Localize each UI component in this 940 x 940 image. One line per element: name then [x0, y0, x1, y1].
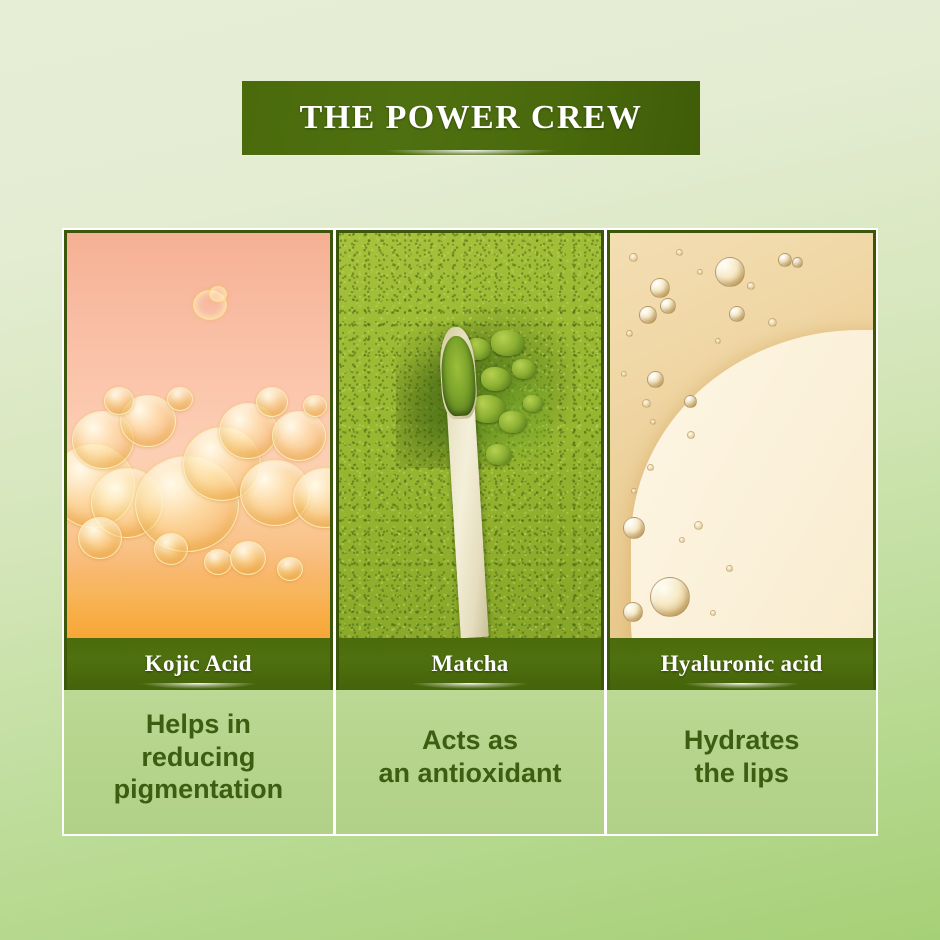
ingredient-label-bar: Matcha	[336, 638, 605, 690]
ingredient-benefit-text: Helps in reducing pigmentation	[114, 708, 284, 807]
foam-bubble	[104, 387, 134, 415]
foam-bubble	[303, 395, 327, 417]
serum-microbubble	[694, 521, 703, 530]
foam-bubble	[78, 517, 122, 559]
serum-bubble	[639, 306, 657, 324]
ingredient-column-hyaluronic-acid: Hyaluronic acid Hydrates the lips	[607, 230, 876, 834]
serum-microbubble	[710, 610, 716, 616]
ingredient-benefit-text: Hydrates the lips	[684, 724, 800, 790]
serum-microbubble	[626, 330, 633, 337]
serum-bubble	[792, 257, 803, 268]
ingredient-label-bar: Hyaluronic acid	[607, 638, 876, 690]
serum-microbubble	[650, 419, 656, 425]
foam-bubble	[230, 541, 266, 575]
serum-bubble	[650, 577, 690, 617]
bubble-ring-icon	[209, 286, 227, 302]
matcha-powder-photo	[336, 230, 605, 638]
ingredient-description-panel: Acts as an antioxidant	[336, 690, 605, 834]
kojic-acid-golden-foam-photo	[64, 230, 333, 638]
serum-bubble	[778, 253, 792, 267]
serum-microbubble	[629, 253, 638, 262]
ingredient-description-panel: Hydrates the lips	[607, 690, 876, 834]
ingredient-column-kojic-acid: Kojic Acid Helps in reducing pigmentatio…	[64, 230, 336, 834]
matcha-clump	[481, 367, 511, 391]
serum-bubble	[729, 306, 745, 322]
ingredient-card: Kojic Acid Helps in reducing pigmentatio…	[62, 228, 878, 836]
serum-bubble	[715, 257, 745, 287]
foam-bubble	[272, 411, 326, 461]
foam-bubble	[204, 549, 232, 575]
foam-bubble	[154, 533, 188, 565]
ingredient-name: Hyaluronic acid	[661, 651, 823, 677]
hyaluronic-acid-serum-photo	[607, 230, 876, 638]
foam-bubble	[167, 387, 193, 411]
ingredient-description-panel: Helps in reducing pigmentation	[64, 690, 333, 834]
matcha-clump	[512, 359, 536, 379]
page-title: THE POWER CREW	[300, 99, 643, 137]
serum-microbubble	[697, 269, 703, 275]
foam-bubble	[277, 557, 303, 581]
matcha-clump	[523, 395, 543, 412]
serum-bubble	[623, 602, 643, 622]
serum-microbubble	[687, 431, 695, 439]
serum-microbubble	[747, 282, 755, 290]
matcha-clump	[499, 411, 527, 433]
ingredient-name: Kojic Acid	[145, 651, 252, 677]
serum-microbubble	[621, 371, 627, 377]
ingredient-label-bar: Kojic Acid	[64, 638, 333, 690]
ingredient-benefit-text: Acts as an antioxidant	[379, 724, 562, 790]
serum-bubble	[660, 298, 676, 314]
serum-microbubble	[679, 537, 685, 543]
serum-bubble	[684, 395, 697, 408]
matcha-clump	[486, 444, 512, 465]
serum-microbubble	[647, 464, 654, 471]
serum-microbubble	[768, 318, 777, 327]
ingredient-name: Matcha	[431, 651, 508, 677]
serum-bubble	[647, 371, 664, 388]
serum-microbubble	[726, 565, 733, 572]
title-banner: THE POWER CREW	[242, 81, 700, 155]
ingredient-column-matcha: Matcha Acts as an antioxidant	[336, 230, 608, 834]
serum-bubble	[650, 278, 670, 298]
serum-microbubble	[676, 249, 683, 256]
serum-microbubble	[715, 338, 721, 344]
serum-microbubble	[642, 399, 651, 408]
foam-bubble	[256, 387, 288, 417]
matcha-clump	[491, 330, 525, 356]
serum-bubble	[623, 517, 645, 539]
